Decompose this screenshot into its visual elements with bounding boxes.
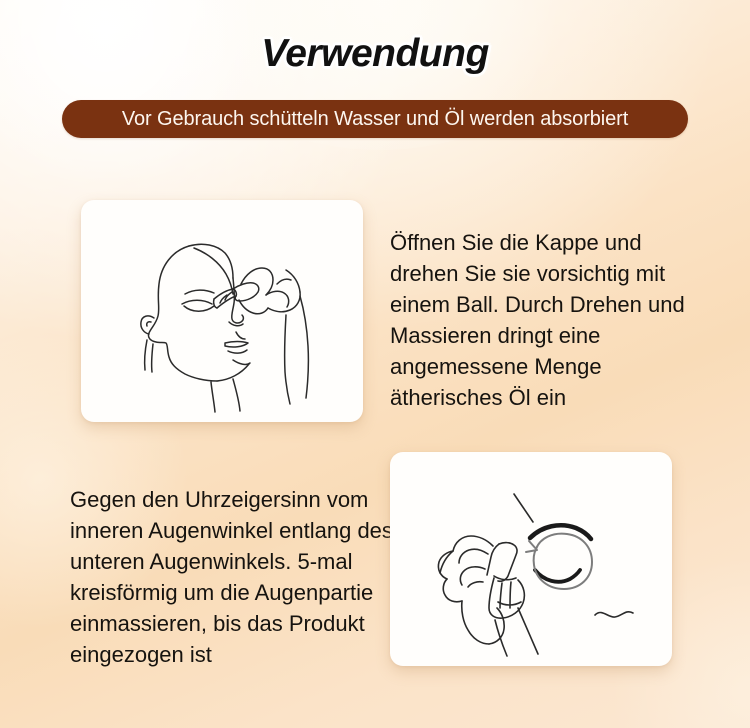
instruction-banner: Vor Gebrauch schütteln Wasser und Öl wer… [62,100,688,138]
woman-applying-roller-to-eye-icon [81,200,363,422]
step-1-description: Öffnen Sie die Kappe und drehen Sie sie … [390,227,700,413]
hand-massaging-under-eye-circular-icon [390,452,672,666]
promo-page: Verwendung Vor Gebrauch schütteln Wasser… [0,0,750,728]
page-title: Verwendung [0,32,750,76]
step-2-description: Gegen den Uhrzeigersinn vom inneren Auge… [70,484,400,670]
step-1-illustration-card [81,200,363,422]
background-glow-top-left [0,0,270,180]
step-2-illustration-card [390,452,672,666]
instruction-banner-text: Vor Gebrauch schütteln Wasser und Öl wer… [122,108,628,131]
